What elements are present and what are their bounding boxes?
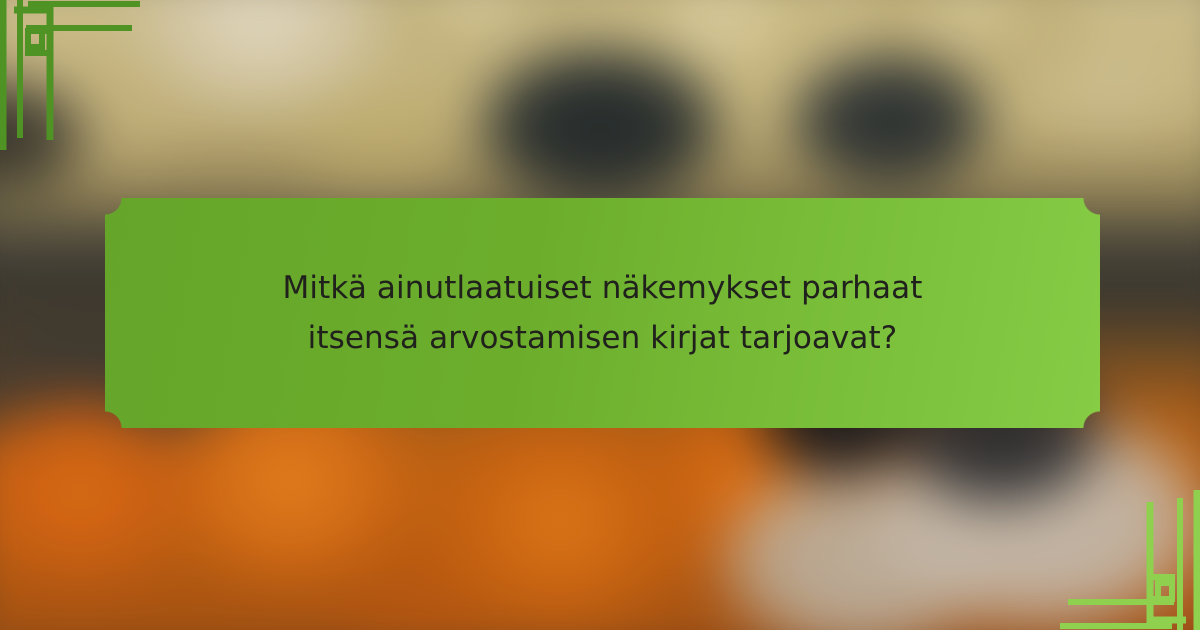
headline-text: Mitkä ainutlaatuiset näkemykset parhaat … bbox=[173, 263, 1033, 363]
social-quote-card: Mitkä ainutlaatuiset näkemykset parhaat … bbox=[0, 0, 1200, 630]
quote-card: Mitkä ainutlaatuiset näkemykset parhaat … bbox=[105, 198, 1100, 428]
